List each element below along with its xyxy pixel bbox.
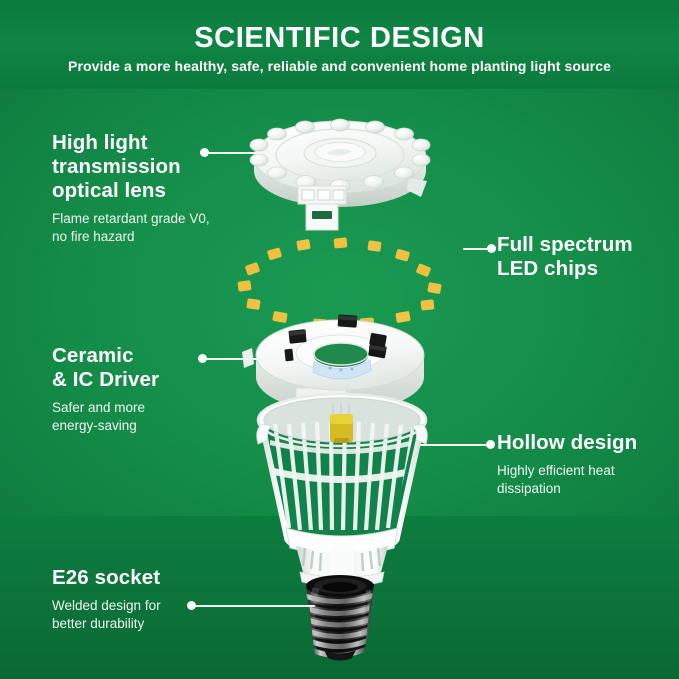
callout-desc-ceramic-ic-driver: Safer and more energy-saving (52, 399, 252, 434)
callout-ceramic-ic-driver: Ceramic & IC Driver Safer and more energ… (52, 344, 252, 434)
product-infographic: SCIENTIFIC DESIGN Provide a more healthy… (0, 0, 679, 679)
leader-dot-hollow-design (486, 440, 495, 449)
callout-title-optical-lens: High light transmission optical lens (52, 131, 252, 203)
e26-socket-component (300, 575, 382, 661)
callout-title-ceramic-ic-driver: Ceramic & IC Driver (52, 344, 252, 392)
callout-led-chips: Full spectrum LED chips (497, 233, 677, 281)
page-title: SCIENTIFIC DESIGN (0, 22, 679, 55)
callout-title-e26-socket: E26 socket (52, 566, 252, 590)
callout-desc-optical-lens: Flame retardant grade V0, no fire hazard (52, 210, 252, 245)
leader-dot-led-chips (487, 244, 496, 253)
internal-yellow-component (330, 403, 353, 443)
page-subtitle: Provide a more healthy, safe, reliable a… (0, 58, 679, 74)
leader-line-hollow-design (420, 444, 495, 446)
callout-e26-socket: E26 socket Welded design for better dura… (52, 566, 252, 632)
callout-title-hollow-design: Hollow design (497, 431, 677, 455)
callout-title-led-chips: Full spectrum LED chips (497, 233, 677, 281)
hollow-heatsink-component (257, 394, 428, 587)
lens-connector (298, 186, 346, 230)
callout-hollow-design: Hollow design Highly efficient heat diss… (497, 431, 677, 497)
optical-lens-component (250, 119, 430, 230)
callout-desc-hollow-design: Highly efficient heat dissipation (497, 462, 677, 497)
callout-optical-lens: High light transmission optical lens Fla… (52, 131, 252, 245)
callout-desc-e26-socket: Welded design for better durability (52, 597, 252, 632)
